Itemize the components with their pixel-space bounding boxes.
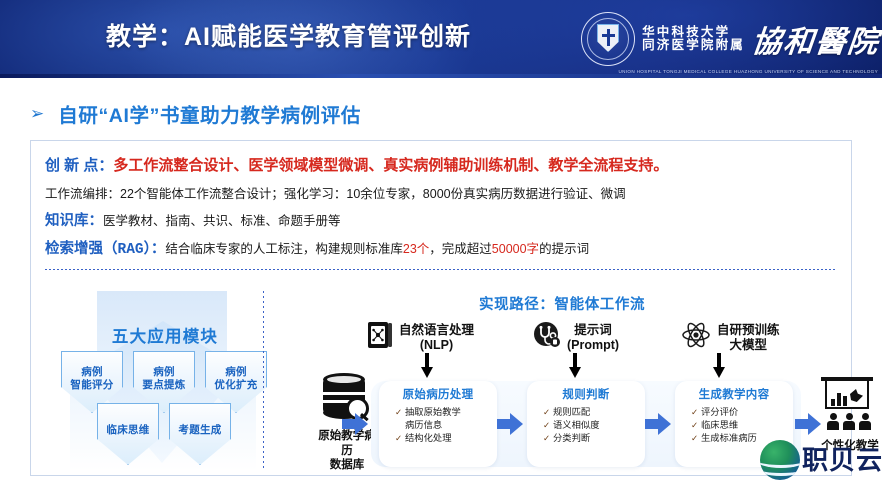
module-label-line1: 考题生成 [178,424,221,436]
section-title: ➢ 自研“AI学”书童助力教学病例评估 [30,99,361,128]
wave-globe-icon [760,440,800,480]
tech-label-line2: 大模型 [730,338,768,352]
rag-count: 23个 [403,242,429,256]
right-arrow-icon [497,413,523,435]
module-label-line1: 病例 [225,366,247,378]
card-list-item: 结构化处理 [395,432,497,445]
workflow-title: 实现路径：智能体工作流 [479,293,645,314]
down-arrow-icon [713,353,725,379]
knowledge-label: 知识库： [45,213,103,229]
module-label-line1: 病例 [81,366,103,378]
logo-line-1: 华中科技大学 [642,26,745,40]
atom-icon [681,321,711,354]
content-box: 创 新 点：多工作流整合设计、医学领域模型微调、真实病例辅助训练机制、教学全流程… [30,140,852,476]
card-title: 原始病历处理 [379,386,497,402]
module-label-line2: 要点提炼 [142,379,185,391]
right-arrow-icon [795,413,821,435]
section-title-text: 自研“AI学”书童助力教学病例评估 [58,99,361,128]
tech-label-line1: 自然语言处理 [399,323,474,337]
database-label-line2: 历 [341,445,353,457]
horizontal-divider [45,269,837,270]
card-list: 抽取原始教学 病历信息 结构化处理 [379,406,497,446]
rag-text-a: 结合临床专家的人工标注，构建规则标准库 [165,242,403,256]
rag-chars: 50000字 [492,242,539,256]
logo-chinese-name: 华中科技大学 同济医学院附属 [642,26,745,53]
database-label-line3: 数据库 [330,459,365,471]
hospital-emblem-icon [581,12,635,66]
down-arrow-icon [421,353,433,379]
stethoscope-icon [533,321,561,354]
right-arrow-icon [342,413,368,435]
rag-label: 检索增强（RAG）： [45,242,165,258]
logo-calligraphy: 協和醫院 [750,17,882,61]
modules-title: 五大应用模块 [45,323,285,347]
module-label-line1: 临床思维 [106,424,149,436]
card-list-item: 规则匹配 [543,406,645,419]
card-title: 规则判断 [527,386,645,402]
module-label-line1: 病例 [153,366,175,378]
rag-text-b: ，完成超过 [429,242,492,256]
modules-panel: 五大应用模块 病例 智能评分 病例 要点提炼 病例 优化扩充 临床思维 考题生成 [45,281,285,463]
innovation-value: 多工作流整合设计、医学领域模型微调、真实病例辅助训练机制、教学全流程支持。 [113,157,668,174]
hospital-logo: 华中科技大学 同济医学院附属 協和醫院 [581,9,880,69]
text-block: 创 新 点：多工作流整合设计、医学领域模型微调、真实病例辅助训练机制、教学全流程… [45,155,837,266]
card-list-item: 语义相似度 [543,419,645,432]
tech-label: 自然语言处理 (NLP) [399,323,474,353]
tech-item: 提示词 (Prompt) [533,321,619,354]
tech-label: 提示词 (Prompt) [567,323,619,353]
watermark: 职贝云数 [760,440,882,480]
card-list: 规则匹配 语义相似度 分类判断 [527,406,645,446]
card-list-item: 病历信息 [395,419,497,432]
tech-label: 自研预训练 大模型 [717,323,780,353]
card-list-item: 分类判断 [543,432,645,445]
logo-line-2: 同济医学院附属 [642,39,745,53]
tech-label-line1: 自研预训练 [717,323,780,337]
tech-item: 自研预训练 大模型 [681,321,780,354]
workflow-text: 工作流编排：22个智能体工作流整合设计；强化学习：10余位专家，8000份真实病… [45,187,626,201]
knowledge-line: 知识库：医学教材、指南、共识、标准、命题手册等 [45,210,837,232]
workflow-card[interactable]: 原始病历处理 抽取原始教学 病历信息 结构化处理 [379,381,497,467]
tech-label-line2: (NLP) [420,338,453,352]
knowledge-value: 医学教材、指南、共识、标准、命题手册等 [103,214,341,228]
workflow-line: 工作流编排：22个智能体工作流整合设计；强化学习：10余位专家，8000份真实病… [45,183,837,205]
rag-text-c: 的提示词 [539,242,589,256]
module-label-line2: 智能评分 [70,379,113,391]
tech-label-line1: 提示词 [574,323,612,337]
bullet-arrow-icon: ➢ [30,105,44,122]
tech-label-line2: (Prompt) [567,338,619,352]
card-title: 生成教学内容 [675,386,793,402]
slide: 教学：AI赋能医学教育管评创新 华中科技大学 同济医学院附属 協和醫院 UNIO… [0,0,882,488]
card-list-item: 抽取原始教学 [395,406,497,419]
book-icon [367,321,393,354]
rag-line: 检索增强（RAG）：结合临床专家的人工标注，构建规则标准库23个，完成超过500… [45,238,837,261]
right-arrow-icon [645,413,671,435]
innovation-line: 创 新 点：多工作流整合设计、医学领域模型微调、真实病例辅助训练机制、教学全流程… [45,155,837,177]
innovation-label: 创 新 点： [45,157,113,174]
down-arrow-icon [569,353,581,379]
workflow-card[interactable]: 规则判断 规则匹配 语义相似度 分类判断 [527,381,645,467]
module-label-line2: 优化扩充 [214,379,257,391]
vertical-divider [263,291,264,469]
tech-item: 自然语言处理 (NLP) [367,321,474,354]
presentation-teaching-icon [821,377,877,431]
watermark-text: 职贝云数 [802,447,882,473]
card-list-item: 评分评价 [691,406,793,419]
page-title: 教学：AI赋能医学教育管评创新 [106,17,471,53]
card-list-item: 临床思维 [691,419,793,432]
slide-header: 教学：AI赋能医学教育管评创新 华中科技大学 同济医学院附属 協和醫院 UNIO… [0,0,882,78]
logo-english-subtitle: UNION HOSPITAL TONGJI MEDICAL COLLEGE HU… [618,69,878,74]
